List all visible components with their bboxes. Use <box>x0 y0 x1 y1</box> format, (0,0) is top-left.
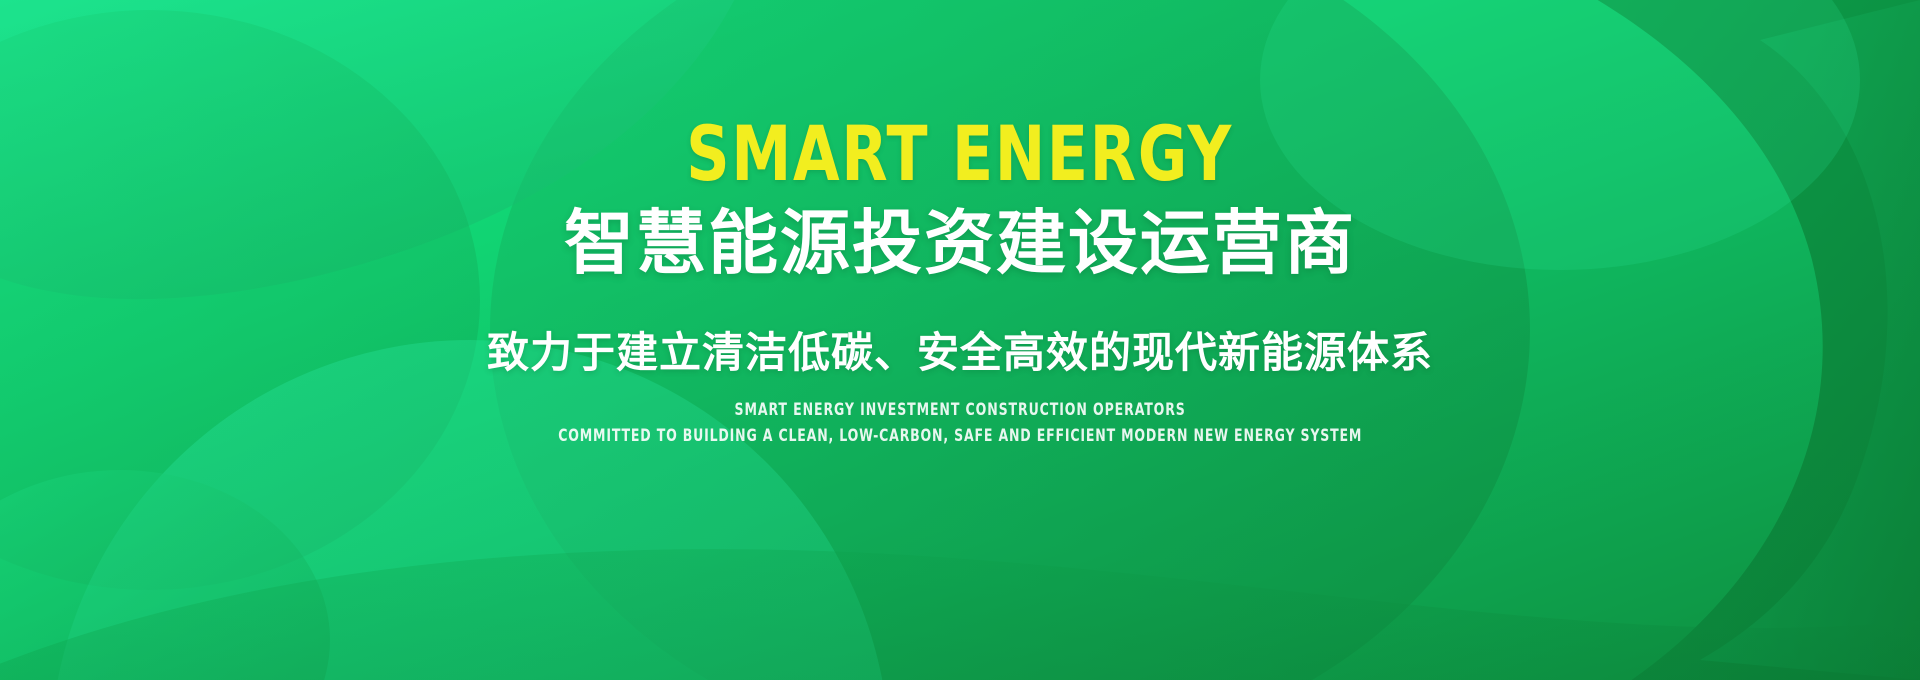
banner-content: SMART ENERGY 智慧能源投资建设运营商 致力于建立清洁低碳、安全高效的… <box>0 0 1920 680</box>
banner-subtitle-chinese: 致力于建立清洁低碳、安全高效的现代新能源体系 <box>487 328 1433 378</box>
banner-subtitle-english-line2: COMMITTED TO BUILDING A CLEAN, LOW-CARBO… <box>558 426 1362 447</box>
hero-banner: SMART ENERGY 智慧能源投资建设运营商 致力于建立清洁低碳、安全高效的… <box>0 0 1920 680</box>
banner-title-english: SMART ENERGY <box>687 116 1234 192</box>
banner-subtitle-english-line1: SMART ENERGY INVESTMENT CONSTRUCTION OPE… <box>734 400 1185 421</box>
banner-english-subtitles: SMART ENERGY INVESTMENT CONSTRUCTION OPE… <box>470 400 1450 448</box>
banner-title-chinese: 智慧能源投资建设运营商 <box>564 206 1356 282</box>
